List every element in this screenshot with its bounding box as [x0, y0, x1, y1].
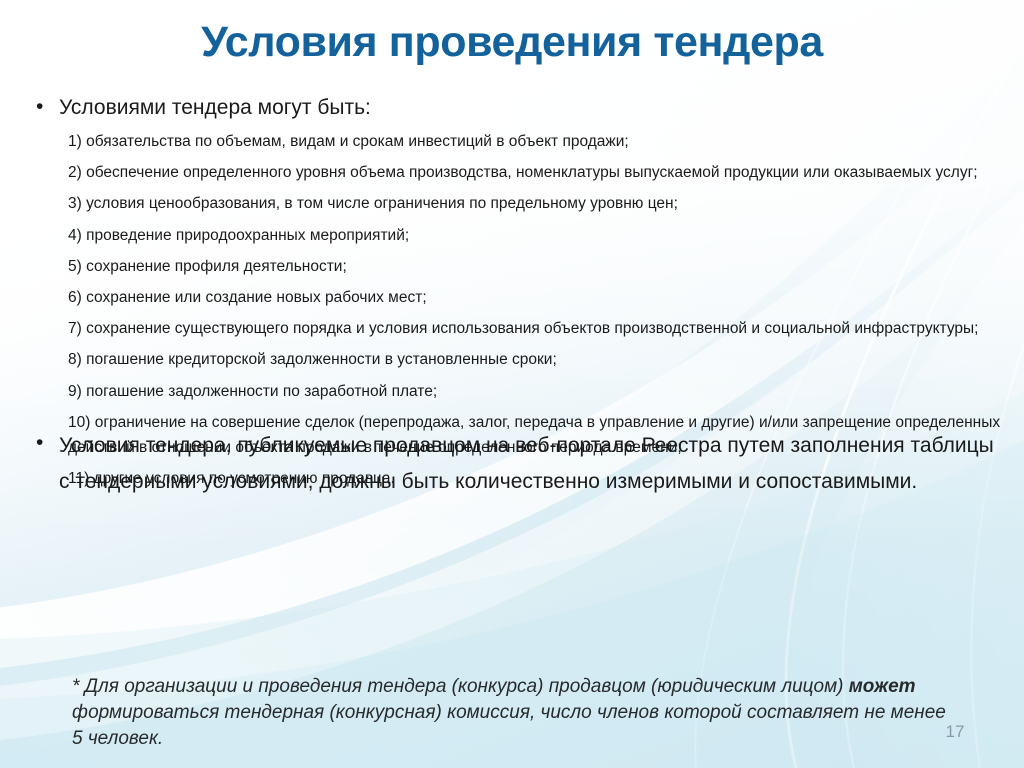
list-item: 9) погашение задолженности по заработной… — [68, 379, 1010, 405]
list-item: 2) обеспечение определенного уровня объе… — [68, 160, 1010, 186]
footnote: * Для организации и проведения тендера (… — [72, 674, 952, 752]
list-item: 7) сохранение существующего порядка и ус… — [68, 316, 1010, 342]
bullet-dot-icon: • — [27, 428, 59, 458]
slide-title: Условия проведения тендера — [0, 16, 1024, 68]
slide-content: Условия проведения тендера • Условиями т… — [0, 0, 1024, 768]
bullet-item-summary: • Условия тендера, публикуемые продавцом… — [27, 428, 1002, 500]
page-number: 17 — [930, 721, 980, 743]
list-item: 4) проведение природоохранных мероприяти… — [68, 223, 1010, 249]
bullet-item-intro: • Условиями тендера могут быть: — [27, 92, 727, 123]
list-item: 6) сохранение или создание новых рабочих… — [68, 285, 1010, 311]
list-item: 1) обязательства по объемам, видам и сро… — [68, 129, 1010, 155]
bullet-dot-icon: • — [27, 92, 59, 122]
footnote-tail-text: формироваться тендерная (конкурсная) ком… — [72, 702, 946, 749]
bullet-intro-text: Условиями тендера могут быть: — [59, 92, 371, 123]
list-item: 3) условия ценообразования, в том числе … — [68, 191, 1010, 217]
footnote-emphasis-text: может — [849, 676, 916, 697]
list-item: 8) погашение кредиторской задолженности … — [68, 347, 1010, 373]
footnote-lead-text: * Для организации и проведения тендера (… — [72, 676, 849, 697]
bullet-summary-text: Условия тендера, публикуемые продавцом н… — [59, 428, 1002, 500]
list-item: 5) сохранение профиля деятельности; — [68, 254, 1010, 280]
presentation-slide: Условия проведения тендера • Условиями т… — [0, 0, 1024, 768]
